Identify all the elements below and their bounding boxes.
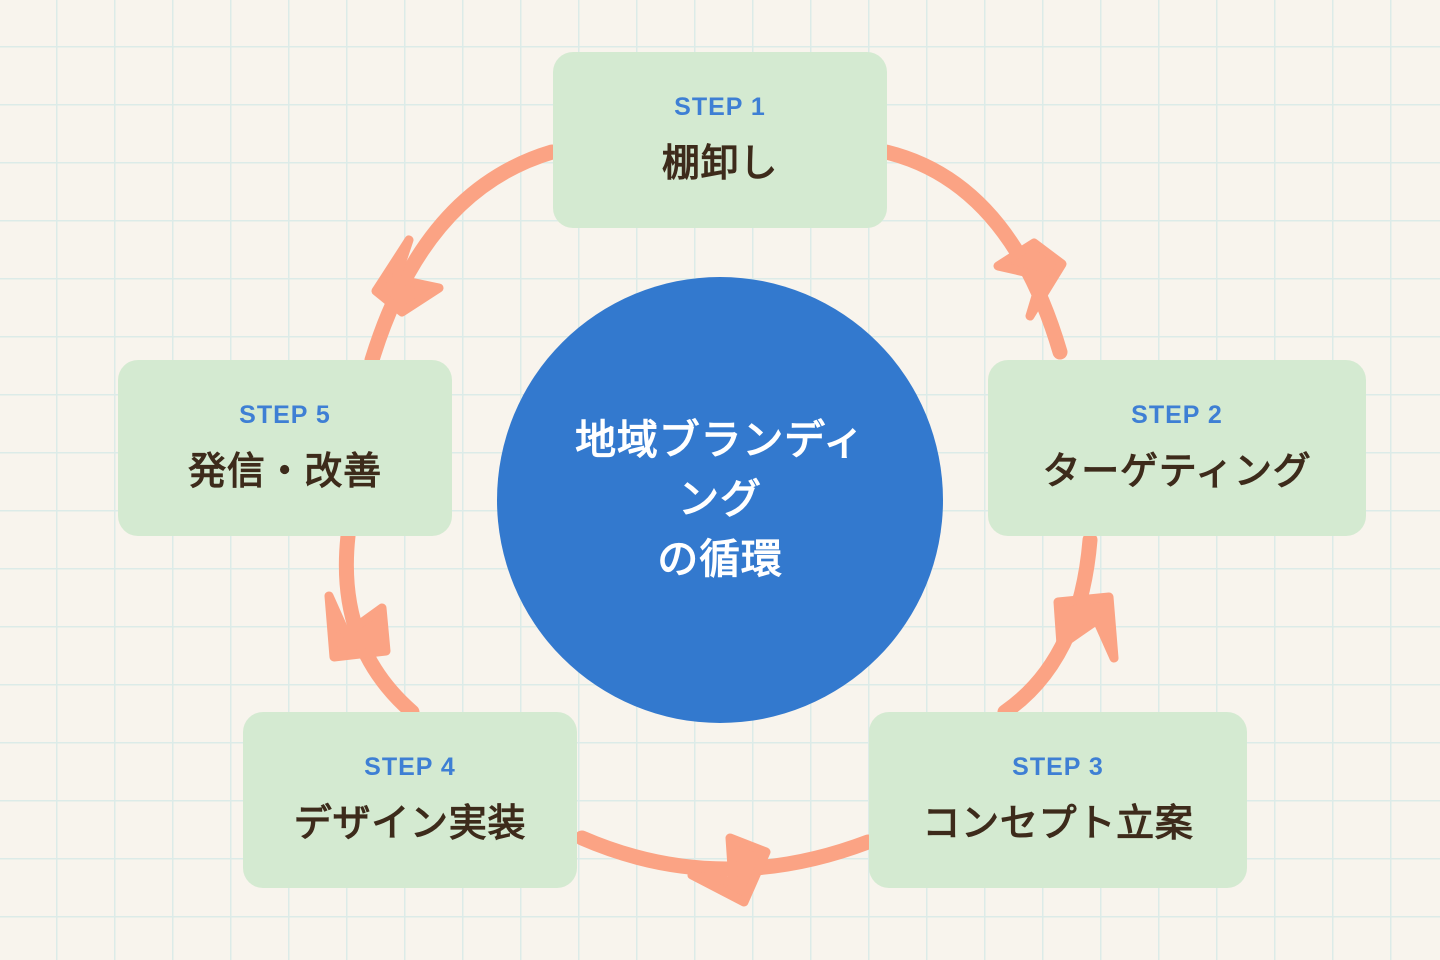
step-box-4[interactable]: STEP 4 デザイン実装 [243, 712, 577, 888]
step-box-3[interactable]: STEP 3 コンセプト立案 [869, 712, 1247, 888]
arrow-step4-to-step5 [329, 536, 412, 712]
arrow-step5-to-step1 [372, 152, 552, 360]
arrow-step1-to-step2 [886, 152, 1062, 352]
step-1-title: 棚卸し [662, 132, 778, 187]
step-4-number: STEP 4 [364, 753, 456, 782]
arrow-step3-to-step4 [582, 838, 868, 902]
step-5-title: 発信・改善 [188, 440, 382, 495]
center-circle: 地域ブランディング の循環 [497, 277, 943, 723]
arrow-step2-to-step3 [1005, 540, 1114, 712]
step-1-number: STEP 1 [674, 93, 766, 122]
step-2-title: ターゲティング [1042, 440, 1311, 495]
step-box-2[interactable]: STEP 2 ターゲティング [988, 360, 1366, 536]
step-2-number: STEP 2 [1131, 401, 1223, 430]
step-3-title: コンセプト立案 [922, 792, 1193, 847]
step-box-5[interactable]: STEP 5 発信・改善 [118, 360, 452, 536]
step-5-number: STEP 5 [239, 401, 331, 430]
step-3-number: STEP 3 [1012, 753, 1104, 782]
step-4-title: デザイン実装 [294, 792, 527, 847]
step-box-1[interactable]: STEP 1 棚卸し [553, 52, 887, 228]
diagram-canvas: 地域ブランディング の循環 STEP 1 棚卸し STEP 2 ターゲティング … [0, 0, 1440, 960]
center-circle-label: 地域ブランディング の循環 [555, 411, 885, 589]
